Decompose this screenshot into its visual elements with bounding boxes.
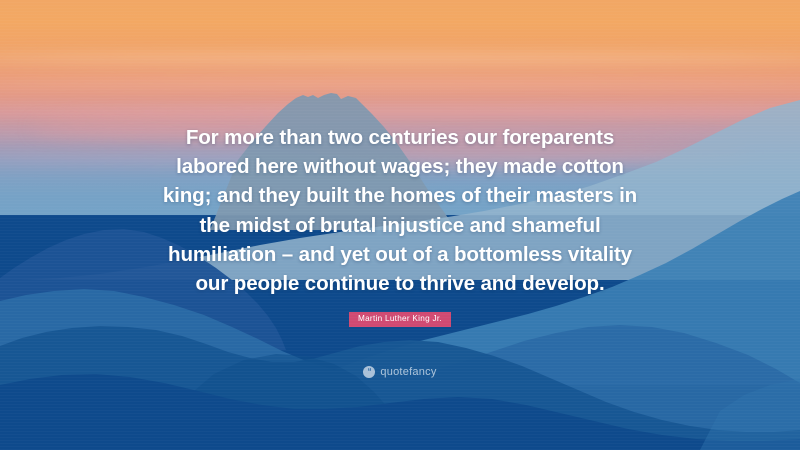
- quote-line: our people continue to thrive and develo…: [140, 269, 660, 298]
- quote-mark-circle-icon: “: [363, 366, 375, 378]
- author-attribution-badge: Martin Luther King Jr.: [349, 312, 451, 327]
- quote-line: the midst of brutal injustice and shamef…: [140, 211, 660, 240]
- quote-line: For more than two centuries our forepare…: [140, 123, 660, 152]
- quote-wallpaper: For more than two centuries our forepare…: [0, 0, 800, 450]
- quote-text: For more than two centuries our forepare…: [140, 123, 660, 298]
- quotefancy-watermark[interactable]: “ quotefancy: [0, 366, 800, 378]
- quote-container: For more than two centuries our forepare…: [0, 0, 800, 450]
- quote-line: king; and they built the homes of their …: [140, 181, 660, 210]
- quotefancy-brand-label: quotefancy: [380, 366, 436, 378]
- quote-line: humiliation – and yet out of a bottomles…: [140, 240, 660, 269]
- quote-line: labored here without wages; they made co…: [140, 152, 660, 181]
